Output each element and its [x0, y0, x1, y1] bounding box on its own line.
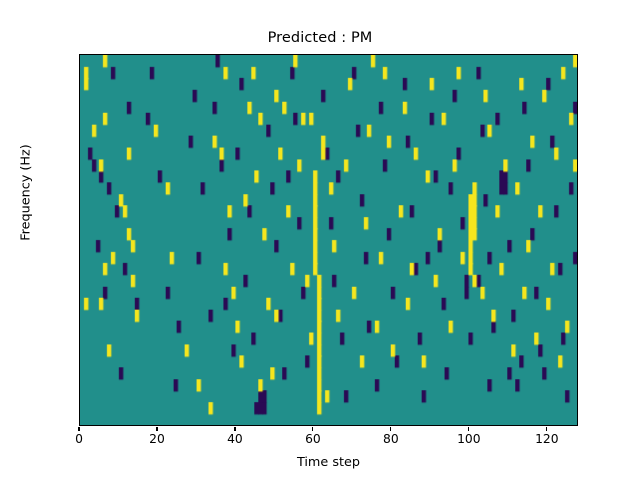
matplotlib-figure: Predicted : PM 0200004000060000800001000… [0, 0, 640, 480]
heatmap-canvas [80, 55, 577, 425]
x-tick-mark [78, 427, 79, 431]
x-tick-mark [234, 427, 235, 431]
heatmap-axes [79, 54, 578, 426]
x-tick-mark [390, 427, 391, 431]
x-tick-label: 100 [457, 432, 480, 446]
x-tick-mark [468, 427, 469, 431]
y-axis-label: Frequency (Hz) [19, 73, 34, 313]
y-axis-ticks: 020000400006000080000100000120000 [0, 0, 79, 480]
x-tick-mark [156, 427, 157, 431]
x-tick-mark [312, 427, 313, 431]
x-tick-label: 40 [227, 432, 243, 446]
x-tick-mark [546, 427, 547, 431]
x-tick-label: 120 [535, 432, 558, 446]
x-tick-label: 60 [305, 432, 321, 446]
x-tick-label: 80 [383, 432, 399, 446]
chart-title: Predicted : PM [0, 30, 640, 46]
x-tick-label: 20 [149, 432, 165, 446]
x-tick-label: 0 [75, 432, 83, 446]
x-axis-label: Time step [79, 455, 578, 470]
